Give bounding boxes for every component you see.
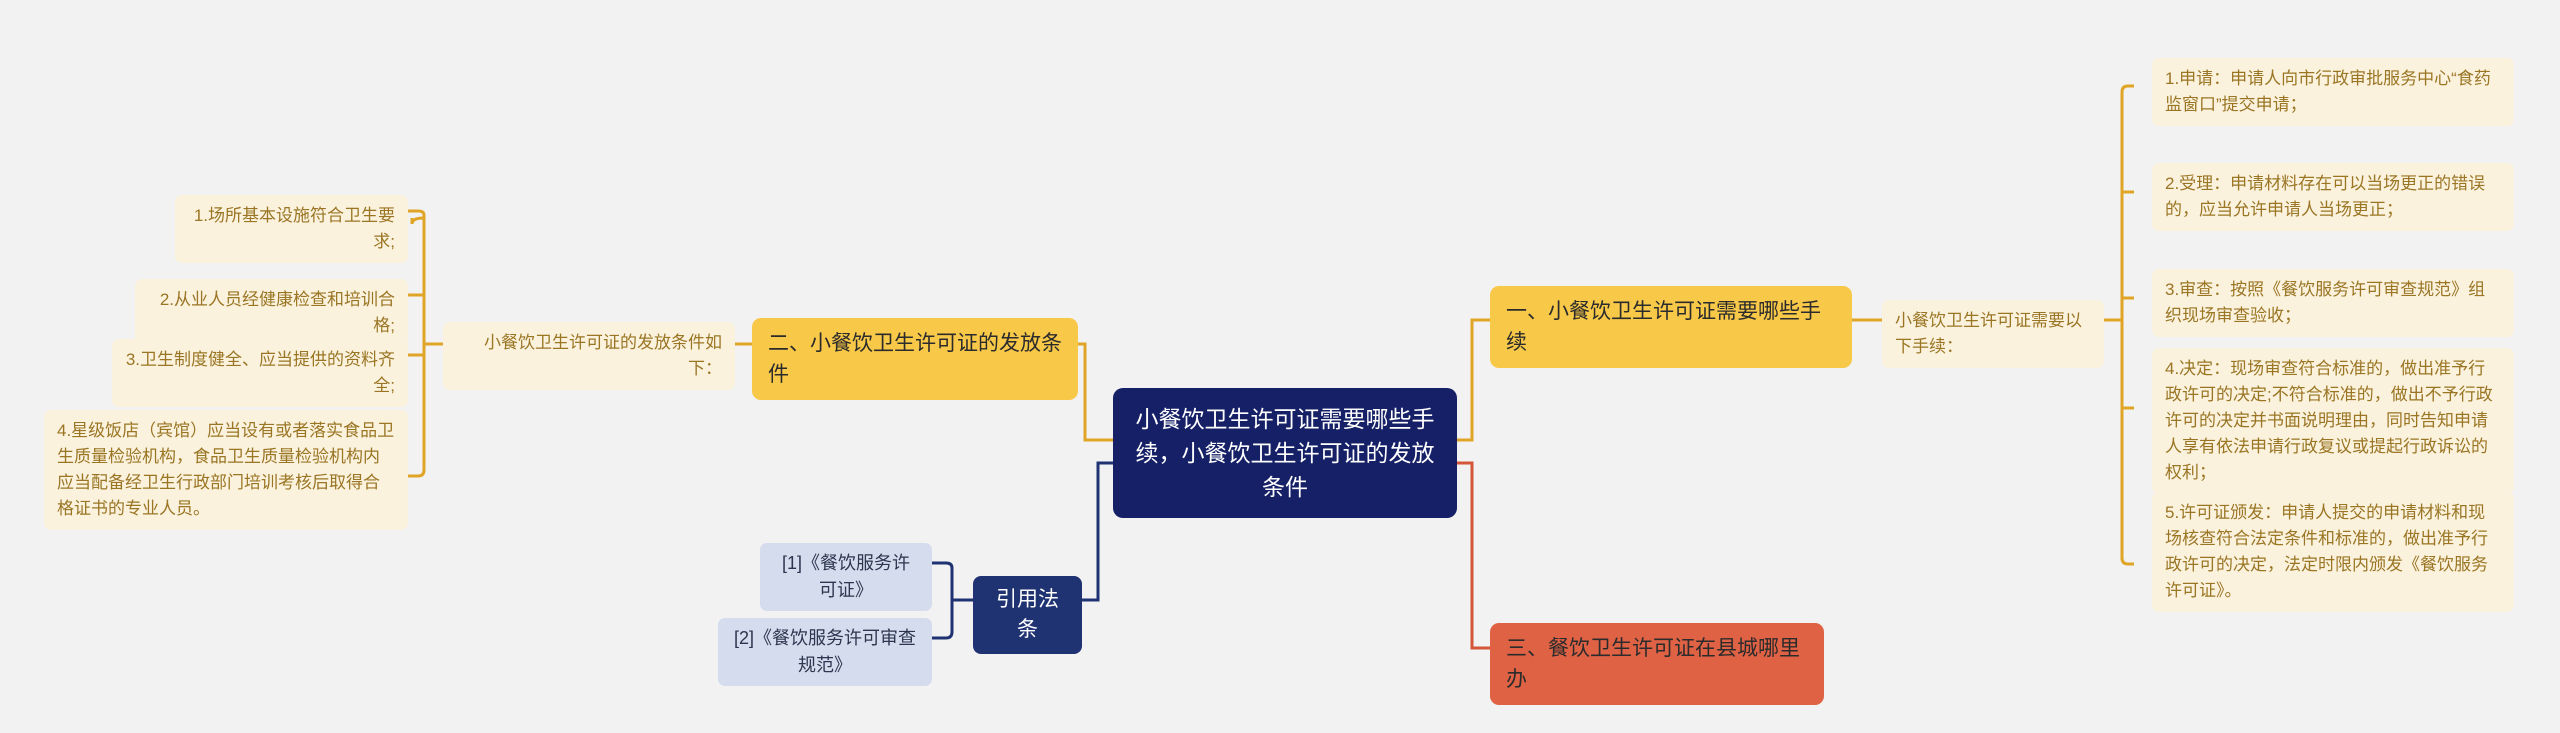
procedure-item-4[interactable]: 4.决定：现场审查符合标准的，做出准予行政许可的决定;不符合标准的，做出不予行政… <box>2152 348 2514 494</box>
condition-item-2[interactable]: 2.从业人员经健康检查和培训合格; <box>135 279 408 347</box>
condition-item-2-label: 2.从业人员经健康检查和培训合格; <box>148 287 395 339</box>
condition-item-4[interactable]: 4.星级饭店（宾馆）应当设有或者落实食品卫生质量检验机构，食品卫生质量检验机构内… <box>44 410 408 530</box>
condition-item-4-label: 4.星级饭店（宾馆）应当设有或者落实食品卫生质量检验机构，食品卫生质量检验机构内… <box>57 418 395 522</box>
branch-procedures-node[interactable]: 一、小餐饮卫生许可证需要哪些手续 <box>1490 286 1852 368</box>
branch-location-label: 三、餐饮卫生许可证在县城哪里办 <box>1506 633 1808 695</box>
condition-item-3[interactable]: 3.卫生制度健全、应当提供的资料齐全; <box>112 339 408 407</box>
procedure-item-2[interactable]: 2.受理：申请材料存在可以当场更正的错误的，应当允许申请人当场更正； <box>2152 163 2514 231</box>
branch-laws-node[interactable]: 引用法条 <box>973 576 1082 654</box>
branch-laws-label: 引用法条 <box>987 585 1068 645</box>
branch-conditions-connector-label[interactable]: 小餐饮卫生许可证的发放条件如下： <box>443 322 735 390</box>
branch-procedures-label: 一、小餐饮卫生许可证需要哪些手续 <box>1506 296 1836 358</box>
law-item-2[interactable]: [2]《餐饮服务许可审查规范》 <box>718 618 932 686</box>
condition-item-3-label: 3.卫生制度健全、应当提供的资料齐全; <box>125 347 395 399</box>
procedure-item-4-label: 4.决定：现场审查符合标准的，做出准予行政许可的决定;不符合标准的，做出不予行政… <box>2165 356 2501 486</box>
procedure-item-5[interactable]: 5.许可证颁发：申请人提交的申请材料和现场核查符合法定条件和标准的，做出准予行政… <box>2152 492 2514 612</box>
branch-conditions-node[interactable]: 二、小餐饮卫生许可证的发放条件 <box>752 318 1078 400</box>
root-node[interactable]: 小餐饮卫生许可证需要哪些手续，小餐饮卫生许可证的发放条件 <box>1113 388 1457 518</box>
law-item-1[interactable]: [1]《餐饮服务许可证》 <box>760 543 932 611</box>
branch-location-node[interactable]: 三、餐饮卫生许可证在县城哪里办 <box>1490 623 1824 705</box>
procedure-item-5-label: 5.许可证颁发：申请人提交的申请材料和现场核查符合法定条件和标准的，做出准予行政… <box>2165 500 2501 604</box>
procedure-item-1[interactable]: 1.申请：申请人向市行政审批服务中心“食药监窗口”提交申请； <box>2152 58 2514 126</box>
procedure-item-1-label: 1.申请：申请人向市行政审批服务中心“食药监窗口”提交申请； <box>2165 66 2501 118</box>
branch-procedures-connector-text: 小餐饮卫生许可证需要以下手续： <box>1895 308 2091 360</box>
procedure-item-2-label: 2.受理：申请材料存在可以当场更正的错误的，应当允许申请人当场更正； <box>2165 171 2501 223</box>
root-node-label: 小餐饮卫生许可证需要哪些手续，小餐饮卫生许可证的发放条件 <box>1131 402 1439 504</box>
condition-item-1-label: 1.场所基本设施符合卫生要求; <box>188 203 395 255</box>
branch-conditions-label: 二、小餐饮卫生许可证的发放条件 <box>768 328 1062 390</box>
law-item-1-label: [1]《餐饮服务许可证》 <box>774 550 918 604</box>
law-item-2-label: [2]《餐饮服务许可审查规范》 <box>732 625 918 679</box>
condition-item-1[interactable]: 1.场所基本设施符合卫生要求; <box>175 195 408 263</box>
branch-conditions-connector-text: 小餐饮卫生许可证的发放条件如下： <box>456 330 722 382</box>
procedure-item-3-label: 3.审查：按照《餐饮服务许可审查规范》组织现场审查验收； <box>2165 277 2501 329</box>
branch-procedures-connector-label[interactable]: 小餐饮卫生许可证需要以下手续： <box>1882 300 2104 368</box>
procedure-item-3[interactable]: 3.审查：按照《餐饮服务许可审查规范》组织现场审查验收； <box>2152 269 2514 337</box>
mindmap-canvas: 小餐饮卫生许可证需要哪些手续，小餐饮卫生许可证的发放条件 二、小餐饮卫生许可证的… <box>0 0 2560 733</box>
